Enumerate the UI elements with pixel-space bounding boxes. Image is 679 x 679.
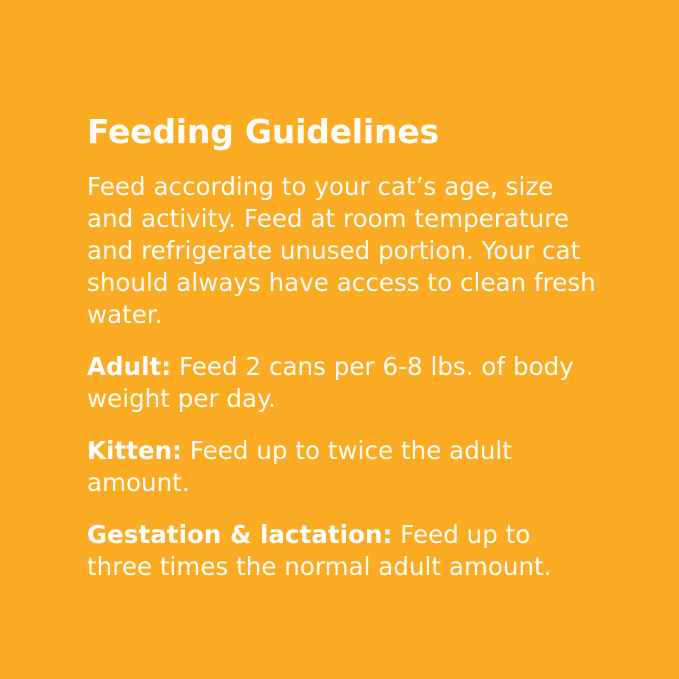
feeding-guidelines-panel: Feeding Guidelines Feed according to you… [0,0,679,679]
paragraph-adult: Adult: Feed 2 cans per 6-8 lbs. of body … [87,351,603,415]
paragraph-kitten: Kitten: Feed up to twice the adult amoun… [87,435,603,499]
paragraph-general: Feed according to your cat’s age, size a… [87,171,603,331]
paragraph-general-body: Feed according to your cat’s age, size a… [87,172,596,329]
paragraph-adult-lead: Adult: [87,352,171,381]
paragraph-kitten-lead: Kitten: [87,436,182,465]
paragraph-gestation-lactation: Gestation & lactation: Feed up to three … [87,519,603,583]
page-title: Feeding Guidelines [87,112,603,152]
paragraph-gestation-lactation-lead: Gestation & lactation: [87,520,392,549]
content-block: Feeding Guidelines Feed according to you… [87,112,603,583]
